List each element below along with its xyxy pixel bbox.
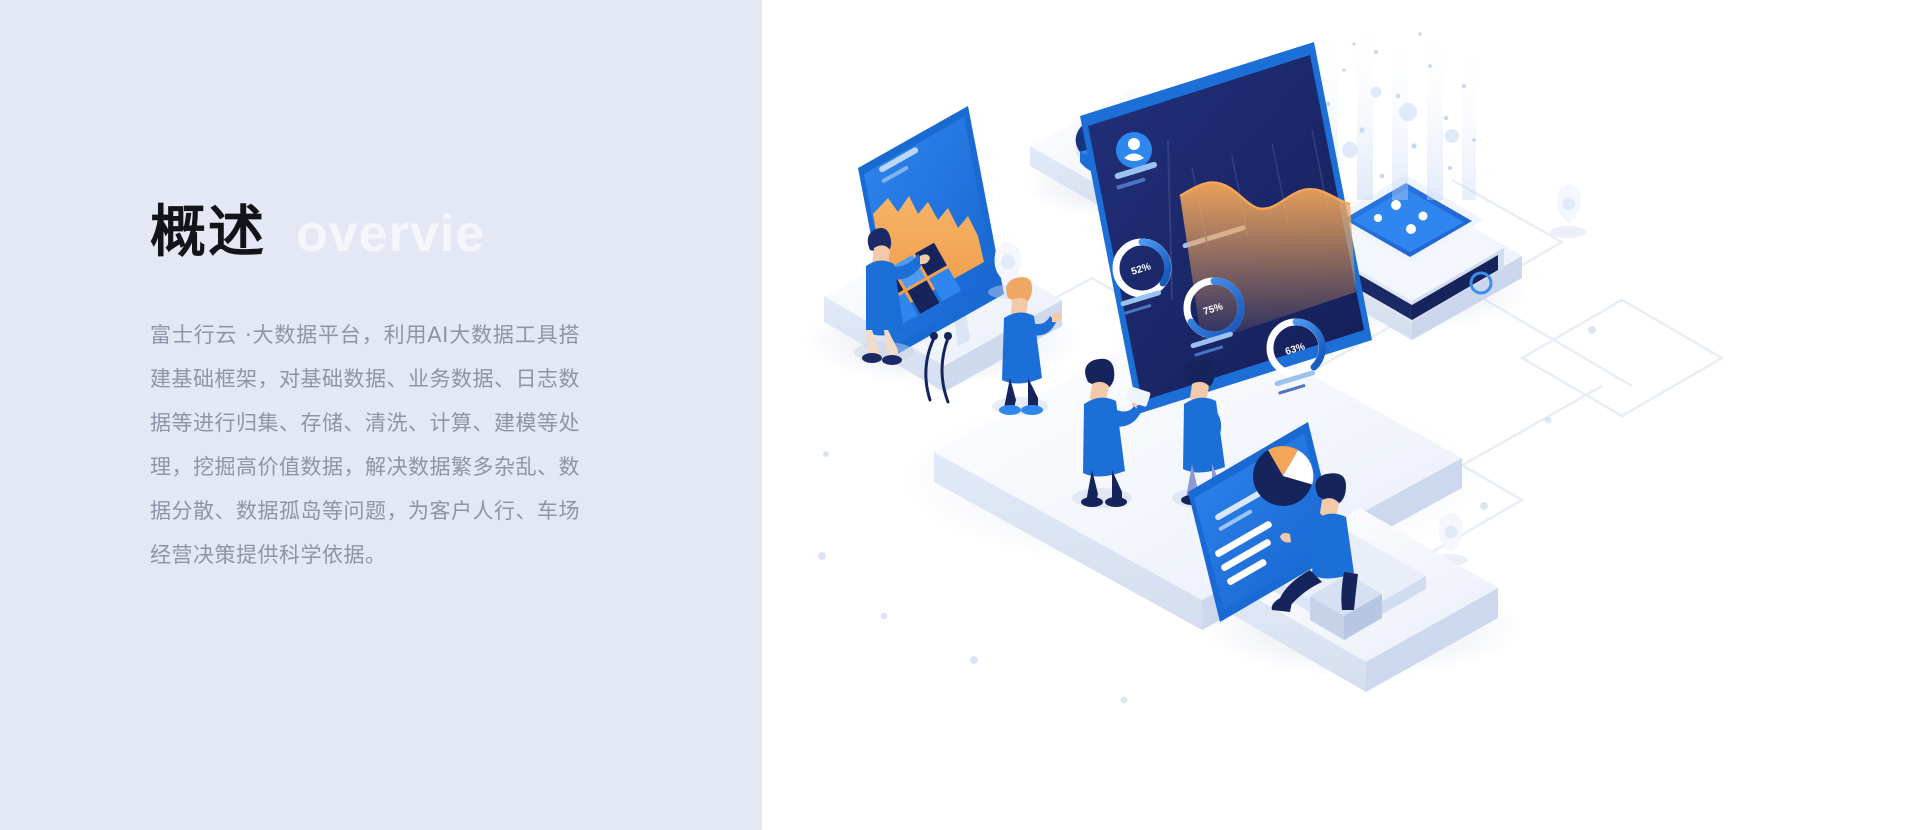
page-title-en: overvie xyxy=(296,208,485,260)
avatar xyxy=(1116,132,1152,168)
isometric-illustration: 52% 75% xyxy=(762,0,1920,830)
page-title: 概述 overvie xyxy=(150,205,590,261)
text-block: 概述 overvie 富士行云 ·大数据平台，利用AI大数据工具搭建基础框架，对… xyxy=(150,205,590,577)
page-title-cn: 概述 xyxy=(150,205,266,261)
illustration-stage: 52% 75% xyxy=(762,0,1920,830)
body-paragraph: 富士行云 ·大数据平台，利用AI大数据工具搭建基础框架，对基础数据、业务数据、日… xyxy=(150,313,580,577)
left-content-panel: 概述 overvie 富士行云 ·大数据平台，利用AI大数据工具搭建基础框架，对… xyxy=(0,0,762,830)
capsule-pod-right xyxy=(1550,185,1586,239)
slide-root: 概述 overvie 富士行云 ·大数据平台，利用AI大数据工具搭建基础框架，对… xyxy=(0,0,1920,830)
